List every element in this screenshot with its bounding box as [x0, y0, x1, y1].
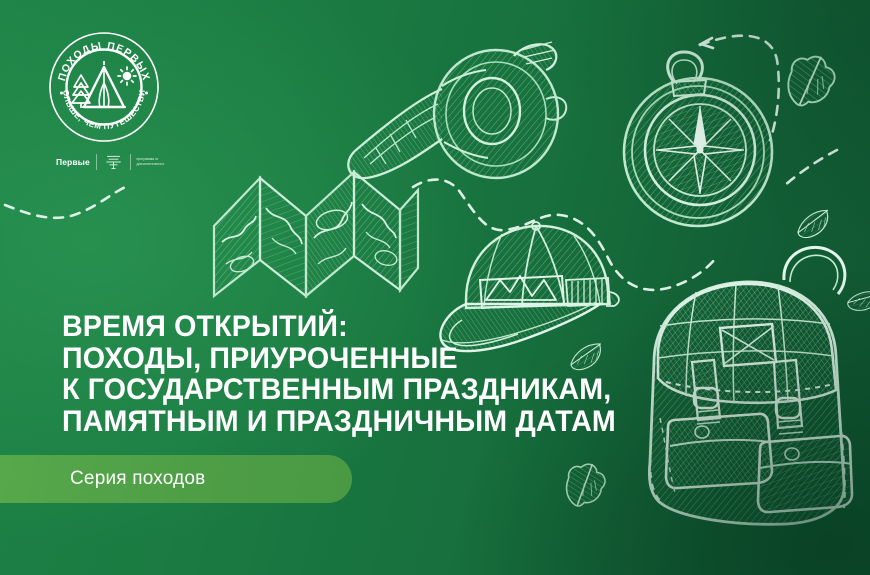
partner-divider-2: [130, 154, 131, 170]
page-title: ВРЕМЯ ОТКРЫТИЙ: ПОХОДЫ, ПРИУРОЧЕННЫЕ К Г…: [62, 311, 682, 437]
brand-logo: ПОХОДЫ ПЕРВЫХ БОЛЬШЕ, ЧЕМ ПУТЕШЕСТВИЕ: [48, 31, 172, 173]
logo-dot-left: [60, 92, 63, 95]
fir-tree-icon: [72, 75, 90, 108]
partner-name-pervye: Первые: [56, 157, 90, 167]
headline-line-1: ВРЕМЯ ОТКРЫТИЙ:: [62, 311, 663, 343]
pohody-pervyh-emblem: ПОХОДЫ ПЕРВЫХ БОЛЬШЕ, ЧЕМ ПУТЕШЕСТВИЕ: [48, 31, 160, 143]
status-badge-label: Серия походов: [70, 468, 205, 490]
headline-line-4: ПАМЯТНЫМ И ПРАЗДНИЧНЫМ ДАТАМ: [62, 406, 663, 438]
sun-icon: [118, 67, 136, 85]
partner-caption: программа от дополнительного: [136, 157, 172, 166]
logo-dot-right: [145, 92, 148, 95]
headline-line-3: К ГОСУДАРСТВЕННЫМ ПРАЗДНИКАМ,: [62, 374, 663, 406]
headline-line-2: ПОХОДЫ, ПРИУРОЧЕННЫЕ: [62, 343, 663, 375]
partner-logos-row: Первые программа от дополнительного: [48, 151, 172, 173]
movement-of-the-first-logo-icon: [103, 151, 124, 173]
promo-banner: ПОХОДЫ ПЕРВЫХ БОЛЬШЕ, ЧЕМ ПУТЕШЕСТВИЕ: [0, 0, 870, 575]
status-badge: Серия походов: [0, 455, 352, 503]
partner-divider: [96, 154, 97, 170]
